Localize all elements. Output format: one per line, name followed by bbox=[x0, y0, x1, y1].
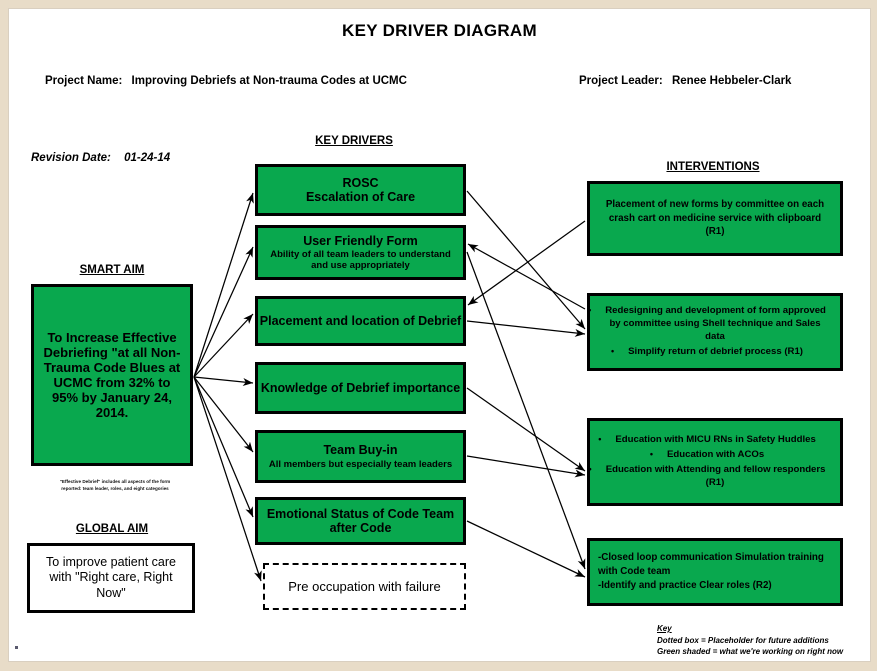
key-driver-subtitle: Ability of all team leaders to understan… bbox=[258, 249, 463, 271]
intervention-box-simulation-training[interactable]: -Closed loop communication Simulation tr… bbox=[587, 538, 843, 606]
key-driver-subtitle: Escalation of Care bbox=[306, 190, 415, 205]
intervention-text: -Identify and practice Clear roles (R2) bbox=[590, 579, 840, 593]
key-driver-title: User Friendly Form bbox=[303, 234, 418, 249]
key-driver-title: ROSC bbox=[342, 176, 378, 191]
key-driver-title: Knowledge of Debrief importance bbox=[261, 381, 460, 396]
smart-aim-box[interactable]: To Increase Effective Debriefing "at all… bbox=[31, 284, 193, 466]
diagram-page: KEY DRIVER DIAGRAM Project Name: Improvi… bbox=[8, 8, 871, 662]
global-aim-text: To improve patient care with "Right care… bbox=[36, 555, 186, 601]
intervention-box-form-redesign[interactable]: Redesigning and development of form appr… bbox=[587, 293, 843, 371]
key-drivers-heading: KEY DRIVERS bbox=[249, 135, 459, 147]
intervention-box-education[interactable]: Education with MICU RNs in Safety Huddle… bbox=[587, 418, 843, 506]
page-title: KEY DRIVER DIAGRAM bbox=[9, 21, 870, 41]
intervention-text: Placement of new forms by committee on e… bbox=[590, 198, 840, 239]
project-leader-row: Project Leader: Renee Hebbeler-Clark bbox=[579, 75, 791, 87]
intervention-list-item: Education with ACOs bbox=[600, 448, 830, 462]
key-driver-box-pre-occupation-failure[interactable]: Pre occupation with failure bbox=[263, 563, 466, 610]
key-driver-box-user-friendly-form[interactable]: User Friendly Form Ability of all team l… bbox=[255, 225, 466, 280]
corner-marker-dot bbox=[15, 646, 18, 649]
key-driver-title: Emotional Status of Code Team after Code bbox=[258, 507, 463, 536]
key-driver-box-team-buy-in[interactable]: Team Buy-in All members but especially t… bbox=[255, 430, 466, 483]
legend-title: Key bbox=[657, 623, 843, 635]
key-driver-title: Team Buy-in bbox=[323, 443, 397, 458]
project-name-label: Project Name: bbox=[45, 75, 122, 87]
key-driver-title: Placement and location of Debrief bbox=[260, 314, 461, 329]
revision-date-value: 01-24-14 bbox=[124, 152, 170, 164]
smart-aim-footnote: "Effective Debrief" includes all aspects… bbox=[55, 479, 175, 493]
revision-date-row: Revision Date: 01-24-14 bbox=[31, 152, 170, 164]
key-driver-subtitle: All members but especially team leaders bbox=[265, 459, 456, 470]
global-aim-box[interactable]: To improve patient care with "Right care… bbox=[27, 543, 195, 613]
key-driver-box-placement-location[interactable]: Placement and location of Debrief bbox=[255, 296, 466, 346]
intervention-list: Redesigning and development of form appr… bbox=[590, 304, 840, 359]
key-driver-box-rosc[interactable]: ROSC Escalation of Care bbox=[255, 164, 466, 216]
intervention-list-item: Simplify return of debrief process (R1) bbox=[600, 345, 830, 359]
intervention-text: -Closed loop communication Simulation tr… bbox=[590, 551, 840, 579]
intervention-list-item: Education with Attending and fellow resp… bbox=[600, 463, 830, 490]
intervention-box-form-placement[interactable]: Placement of new forms by committee on e… bbox=[587, 181, 843, 256]
key-driver-box-knowledge-importance[interactable]: Knowledge of Debrief importance bbox=[255, 362, 466, 414]
revision-date-label: Revision Date: bbox=[31, 152, 111, 164]
diagram-canvas: KEY DRIVER DIAGRAM Project Name: Improvi… bbox=[9, 9, 870, 661]
smart-aim-text: To Increase Effective Debriefing "at all… bbox=[40, 330, 184, 420]
key-driver-box-emotional-status[interactable]: Emotional Status of Code Team after Code bbox=[255, 497, 466, 545]
intervention-list-item: Redesigning and development of form appr… bbox=[600, 304, 830, 344]
project-leader-label: Project Leader: bbox=[579, 75, 663, 87]
interventions-heading: INTERVENTIONS bbox=[587, 161, 839, 173]
intervention-list-item: Education with MICU RNs in Safety Huddle… bbox=[600, 433, 830, 447]
project-name-value: Improving Debriefs at Non-trauma Codes a… bbox=[132, 75, 407, 87]
project-name-row: Project Name: Improving Debriefs at Non-… bbox=[45, 75, 407, 87]
legend-dotted-box-line: Dotted box = Placeholder for future addi… bbox=[657, 635, 843, 647]
legend: Key Dotted box = Placeholder for future … bbox=[657, 623, 843, 658]
intervention-list: Education with MICU RNs in Safety Huddle… bbox=[590, 433, 840, 490]
project-leader-value: Renee Hebbeler-Clark bbox=[672, 75, 792, 87]
key-driver-title: Pre occupation with failure bbox=[288, 579, 440, 595]
legend-green-shaded-line: Green shaded = what we're working on rig… bbox=[657, 646, 843, 658]
smart-aim-heading: SMART AIM bbox=[27, 264, 197, 276]
global-aim-heading: GLOBAL AIM bbox=[27, 523, 197, 535]
